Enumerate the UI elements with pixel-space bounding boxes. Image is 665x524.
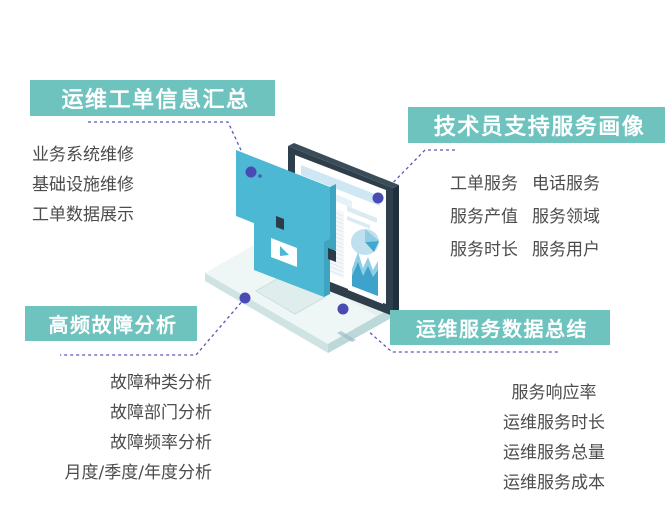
banner-bottom-right[interactable]: 运维服务数据总结	[390, 310, 610, 345]
banner-top-left[interactable]: 运维工单信息汇总	[30, 80, 275, 116]
laptop-screen	[288, 143, 399, 316]
list-item: 故障部门分析	[12, 398, 212, 428]
list-item: 电话服务	[532, 168, 600, 201]
list-item: 服务领域	[532, 201, 600, 234]
list-item: 运维服务时长	[455, 408, 653, 438]
play-button-icon	[280, 246, 289, 256]
connector-dot-top-left	[246, 167, 257, 178]
connector-dot-top-right	[373, 193, 384, 204]
list-item: 服务产值	[450, 201, 518, 234]
list-bottom-left: 故障种类分析 故障部门分析 故障频率分析 月度/季度/年度分析	[12, 368, 212, 488]
list-item: 月度/季度/年度分析	[12, 458, 212, 488]
connector-line-top-right	[378, 150, 455, 198]
connector-dot-bottom-left	[240, 293, 251, 304]
floating-panel-lower	[254, 215, 330, 297]
area-chart	[352, 252, 378, 296]
list-item: 运维服务总量	[455, 438, 653, 468]
screen-content	[301, 165, 383, 304]
list-row: 服务产值 服务领域	[450, 201, 600, 234]
floating-panel-upper	[236, 150, 336, 253]
list-row: 服务时长 服务用户	[450, 234, 600, 267]
list-bottom-right: 服务响应率 运维服务时长 运维服务总量 运维服务成本	[455, 378, 653, 498]
list-item: 故障频率分析	[12, 428, 212, 458]
banner-top-right[interactable]: 技术员支持服务画像	[408, 107, 665, 143]
banner-bottom-left[interactable]: 高频故障分析	[25, 306, 197, 341]
panel-notch-chips	[276, 216, 336, 262]
infographic-canvas: 运维工单信息汇总 技术员支持服务画像 高频故障分析 运维服务数据总结 业务系统维…	[0, 0, 665, 524]
list-item: 服务时长	[450, 234, 518, 267]
list-item: 工单数据展示	[32, 200, 134, 230]
pie-chart	[351, 229, 379, 255]
list-top-left: 业务系统维修 基础设施维修 工单数据展示	[32, 140, 134, 230]
list-item: 工单服务	[450, 168, 518, 201]
list-top-right: 工单服务 电话服务 服务产值 服务领域 服务时长 服务用户	[450, 168, 600, 267]
connector-dot-bottom-right	[338, 304, 349, 315]
laptop-base	[205, 236, 393, 353]
list-item: 服务响应率	[455, 378, 653, 408]
list-item: 基础设施维修	[32, 170, 134, 200]
list-item: 运维服务成本	[455, 468, 653, 498]
laptop-trackpad	[256, 274, 325, 314]
list-item: 业务系统维修	[32, 140, 134, 170]
laptop-keyboard	[285, 242, 392, 304]
list-item: 服务用户	[532, 234, 600, 267]
list-row: 工单服务 电话服务	[450, 168, 600, 201]
connector-dots	[240, 167, 384, 315]
list-item: 故障种类分析	[12, 368, 212, 398]
